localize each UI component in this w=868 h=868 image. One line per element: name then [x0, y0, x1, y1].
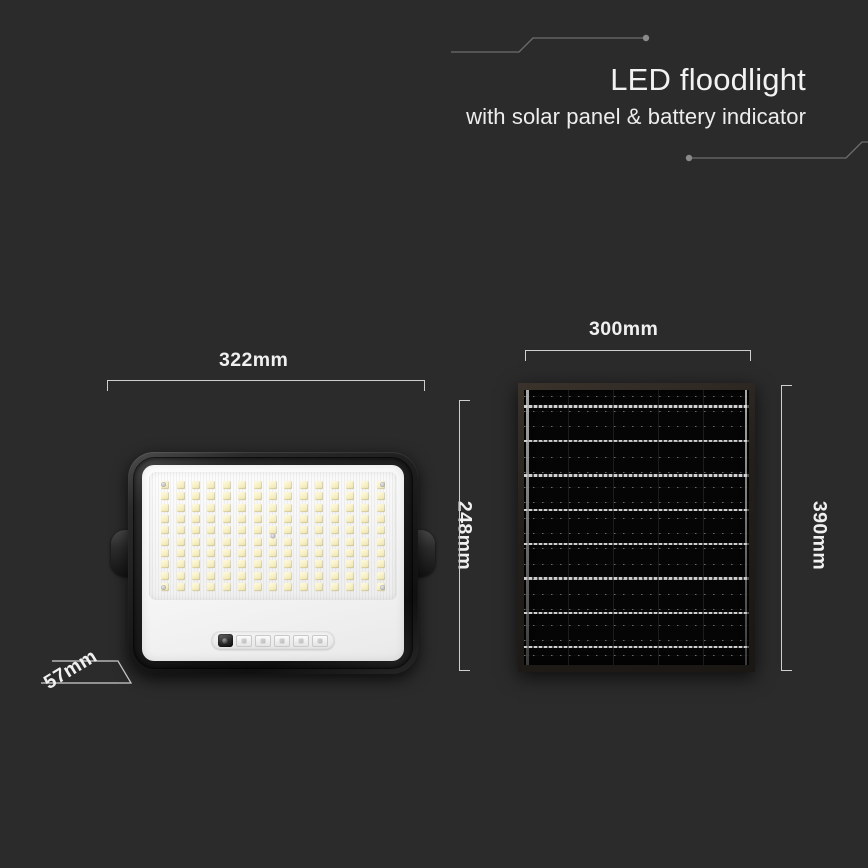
led-chip — [238, 549, 246, 557]
led-chip — [346, 549, 354, 557]
led-chip — [331, 549, 339, 557]
led-chip — [315, 515, 323, 523]
solar-fingerline — [524, 518, 749, 519]
led-chip — [361, 504, 369, 512]
solar-fingerline — [524, 640, 749, 641]
led-chip — [361, 515, 369, 523]
floodlight-width-bracket — [107, 380, 425, 391]
led-chip — [377, 515, 385, 523]
led-chip — [377, 572, 385, 580]
screw-icon — [380, 585, 385, 590]
solar-fingerline — [524, 533, 749, 534]
solar-busbar — [524, 509, 749, 511]
led-chip — [223, 560, 231, 568]
led-chip — [269, 549, 277, 557]
led-chip — [361, 549, 369, 557]
screw-icon — [271, 534, 276, 539]
screw-icon — [161, 585, 166, 590]
screw-icon — [161, 482, 166, 487]
solar-fingerline — [524, 625, 749, 626]
led-chip — [377, 538, 385, 546]
led-chip — [207, 481, 215, 489]
led-chip — [331, 515, 339, 523]
led-floodlight-product — [128, 452, 418, 674]
led-chip — [223, 572, 231, 580]
led-chip — [346, 526, 354, 534]
led-chip — [192, 504, 200, 512]
solar-fingerline — [524, 441, 749, 442]
battery-cell — [274, 635, 290, 647]
led-chip — [223, 583, 231, 591]
led-chip — [177, 583, 185, 591]
led-chip — [331, 481, 339, 489]
solar-panel-width-label: 300mm — [589, 318, 658, 341]
led-chip — [300, 560, 308, 568]
led-chip — [300, 515, 308, 523]
led-chip — [238, 538, 246, 546]
solar-busbar — [524, 646, 749, 648]
battery-indicator-panel — [211, 631, 335, 650]
led-chip — [223, 481, 231, 489]
solar-panel-height-bracket — [781, 385, 792, 671]
led-chip — [331, 526, 339, 534]
led-chip — [207, 583, 215, 591]
solar-fingerline — [524, 609, 749, 610]
led-chip — [361, 526, 369, 534]
solar-fingerline — [524, 472, 749, 473]
solar-busbar — [524, 474, 749, 476]
led-chip — [284, 504, 292, 512]
edge-busbar-left — [526, 390, 529, 665]
battery-cell-row — [236, 635, 328, 647]
floodlight-lens — [149, 472, 397, 600]
led-chip — [177, 560, 185, 568]
solar-fingerline — [524, 396, 749, 397]
led-chip — [177, 549, 185, 557]
led-chip — [315, 538, 323, 546]
led-chip — [192, 538, 200, 546]
solar-panel-height-label: 390mm — [808, 501, 831, 571]
led-chip — [177, 572, 185, 580]
led-chip — [207, 515, 215, 523]
led-chip — [300, 583, 308, 591]
floodlight-housing — [128, 452, 418, 674]
solar-busbar — [524, 612, 749, 614]
led-chip — [361, 583, 369, 591]
solar-fingerline — [524, 655, 749, 656]
led-chip — [315, 572, 323, 580]
led-chip — [161, 560, 169, 568]
led-chip — [300, 492, 308, 500]
led-chip — [315, 481, 323, 489]
led-chip — [346, 515, 354, 523]
solar-fingerline — [524, 502, 749, 503]
led-chip — [300, 504, 308, 512]
led-chip — [284, 481, 292, 489]
solar-fingerline — [524, 487, 749, 488]
led-chip — [207, 572, 215, 580]
led-chip — [331, 583, 339, 591]
led-chip — [331, 504, 339, 512]
led-chip — [223, 549, 231, 557]
led-chip — [177, 526, 185, 534]
led-chip — [238, 515, 246, 523]
led-chip — [161, 526, 169, 534]
led-chip — [254, 515, 262, 523]
solar-busbar — [524, 405, 749, 407]
top-right-circuit-trace — [451, 38, 645, 52]
led-chip — [269, 560, 277, 568]
solar-busbar — [524, 543, 749, 545]
led-chip — [254, 492, 262, 500]
led-chip — [177, 538, 185, 546]
led-chip — [361, 538, 369, 546]
led-chip — [223, 538, 231, 546]
led-chip — [238, 492, 246, 500]
led-chip — [346, 492, 354, 500]
led-chip — [254, 538, 262, 546]
page-title: LED floodlight — [466, 62, 806, 98]
led-chip — [300, 549, 308, 557]
led-chip — [238, 560, 246, 568]
led-chip — [192, 572, 200, 580]
solar-panel-width-bracket — [525, 350, 751, 361]
led-chip — [254, 549, 262, 557]
led-chip — [361, 492, 369, 500]
mid-right-circuit-trace — [690, 142, 868, 158]
battery-cell — [255, 635, 271, 647]
edge-busbar-right — [745, 390, 748, 665]
led-chip — [254, 526, 262, 534]
led-chip — [331, 538, 339, 546]
led-chip — [346, 538, 354, 546]
led-chip — [300, 481, 308, 489]
page-subtitle: with solar panel & battery indicator — [466, 104, 806, 130]
led-chip — [284, 560, 292, 568]
trace-endpoint-dot-mid — [686, 155, 692, 161]
led-chip — [284, 515, 292, 523]
led-chip — [177, 481, 185, 489]
led-chip — [161, 538, 169, 546]
led-chip — [207, 560, 215, 568]
floodlight-front-face — [142, 465, 404, 661]
led-chip — [346, 481, 354, 489]
led-chip — [377, 560, 385, 568]
led-chip — [269, 572, 277, 580]
led-chip — [238, 526, 246, 534]
floodlight-height-bracket — [459, 400, 470, 671]
led-chip — [223, 526, 231, 534]
battery-cell — [236, 635, 252, 647]
led-chip — [238, 504, 246, 512]
solar-fingerline — [524, 594, 749, 595]
led-chip — [192, 526, 200, 534]
led-chip — [346, 583, 354, 591]
led-chip — [269, 481, 277, 489]
solar-fingerline — [524, 564, 749, 565]
led-chip — [192, 549, 200, 557]
led-chip — [361, 560, 369, 568]
trace-endpoint-dot-top — [643, 35, 649, 41]
led-chip — [300, 538, 308, 546]
led-chip — [177, 515, 185, 523]
led-chip — [361, 572, 369, 580]
solar-fingerline — [524, 411, 749, 412]
led-chip — [315, 549, 323, 557]
led-chip — [346, 560, 354, 568]
led-chip — [223, 515, 231, 523]
led-chip — [223, 492, 231, 500]
solar-panel-cells — [524, 390, 749, 665]
led-chip — [331, 492, 339, 500]
led-chip — [284, 549, 292, 557]
led-chip — [161, 504, 169, 512]
led-chip — [346, 504, 354, 512]
led-chip — [315, 526, 323, 534]
led-chip — [207, 492, 215, 500]
led-chip — [284, 492, 292, 500]
led-chip — [269, 492, 277, 500]
led-chip — [238, 572, 246, 580]
led-chip — [238, 583, 246, 591]
led-chip — [315, 492, 323, 500]
led-chip — [192, 583, 200, 591]
led-chip — [346, 572, 354, 580]
led-chip — [269, 583, 277, 591]
led-chip — [161, 492, 169, 500]
led-chip — [192, 515, 200, 523]
led-chip — [315, 560, 323, 568]
led-chip — [177, 492, 185, 500]
led-chip — [223, 504, 231, 512]
led-chip — [269, 504, 277, 512]
header-title-block: LED floodlight with solar panel & batter… — [466, 62, 806, 130]
led-chip — [331, 572, 339, 580]
led-chip — [331, 560, 339, 568]
led-chip — [254, 583, 262, 591]
led-chip — [361, 481, 369, 489]
battery-cell — [293, 635, 309, 647]
solar-fingerline — [524, 548, 749, 549]
solar-fingerline — [524, 579, 749, 580]
led-chip — [284, 583, 292, 591]
battery-cell — [312, 635, 328, 647]
solar-fingerline — [524, 457, 749, 458]
led-chip — [284, 538, 292, 546]
screw-icon — [380, 482, 385, 487]
led-chip — [315, 583, 323, 591]
led-chip — [192, 492, 200, 500]
led-chip — [207, 538, 215, 546]
led-chip — [377, 492, 385, 500]
led-chip — [177, 504, 185, 512]
solar-fingerline — [524, 426, 749, 427]
led-chip — [238, 481, 246, 489]
floodlight-width-label: 322mm — [219, 349, 288, 372]
led-chip — [377, 504, 385, 512]
led-chip — [377, 549, 385, 557]
led-chip — [269, 515, 277, 523]
led-chip — [377, 526, 385, 534]
led-chip — [300, 526, 308, 534]
led-chip — [254, 481, 262, 489]
led-chip — [315, 504, 323, 512]
led-chip — [161, 549, 169, 557]
led-chip — [161, 515, 169, 523]
led-chip — [192, 481, 200, 489]
led-chip — [300, 572, 308, 580]
led-chip — [207, 504, 215, 512]
led-chip — [284, 526, 292, 534]
led-chip — [254, 560, 262, 568]
led-chip — [269, 538, 277, 546]
led-chip — [192, 560, 200, 568]
solar-busbars — [524, 390, 749, 665]
led-chip — [284, 572, 292, 580]
sensor-eye-icon — [218, 634, 233, 647]
led-chip — [254, 572, 262, 580]
floodlight-depth-label: 57mm — [40, 645, 102, 695]
led-chip — [207, 549, 215, 557]
led-chip — [207, 526, 215, 534]
led-chip — [254, 504, 262, 512]
solar-panel-product — [518, 383, 755, 672]
led-chip — [161, 572, 169, 580]
